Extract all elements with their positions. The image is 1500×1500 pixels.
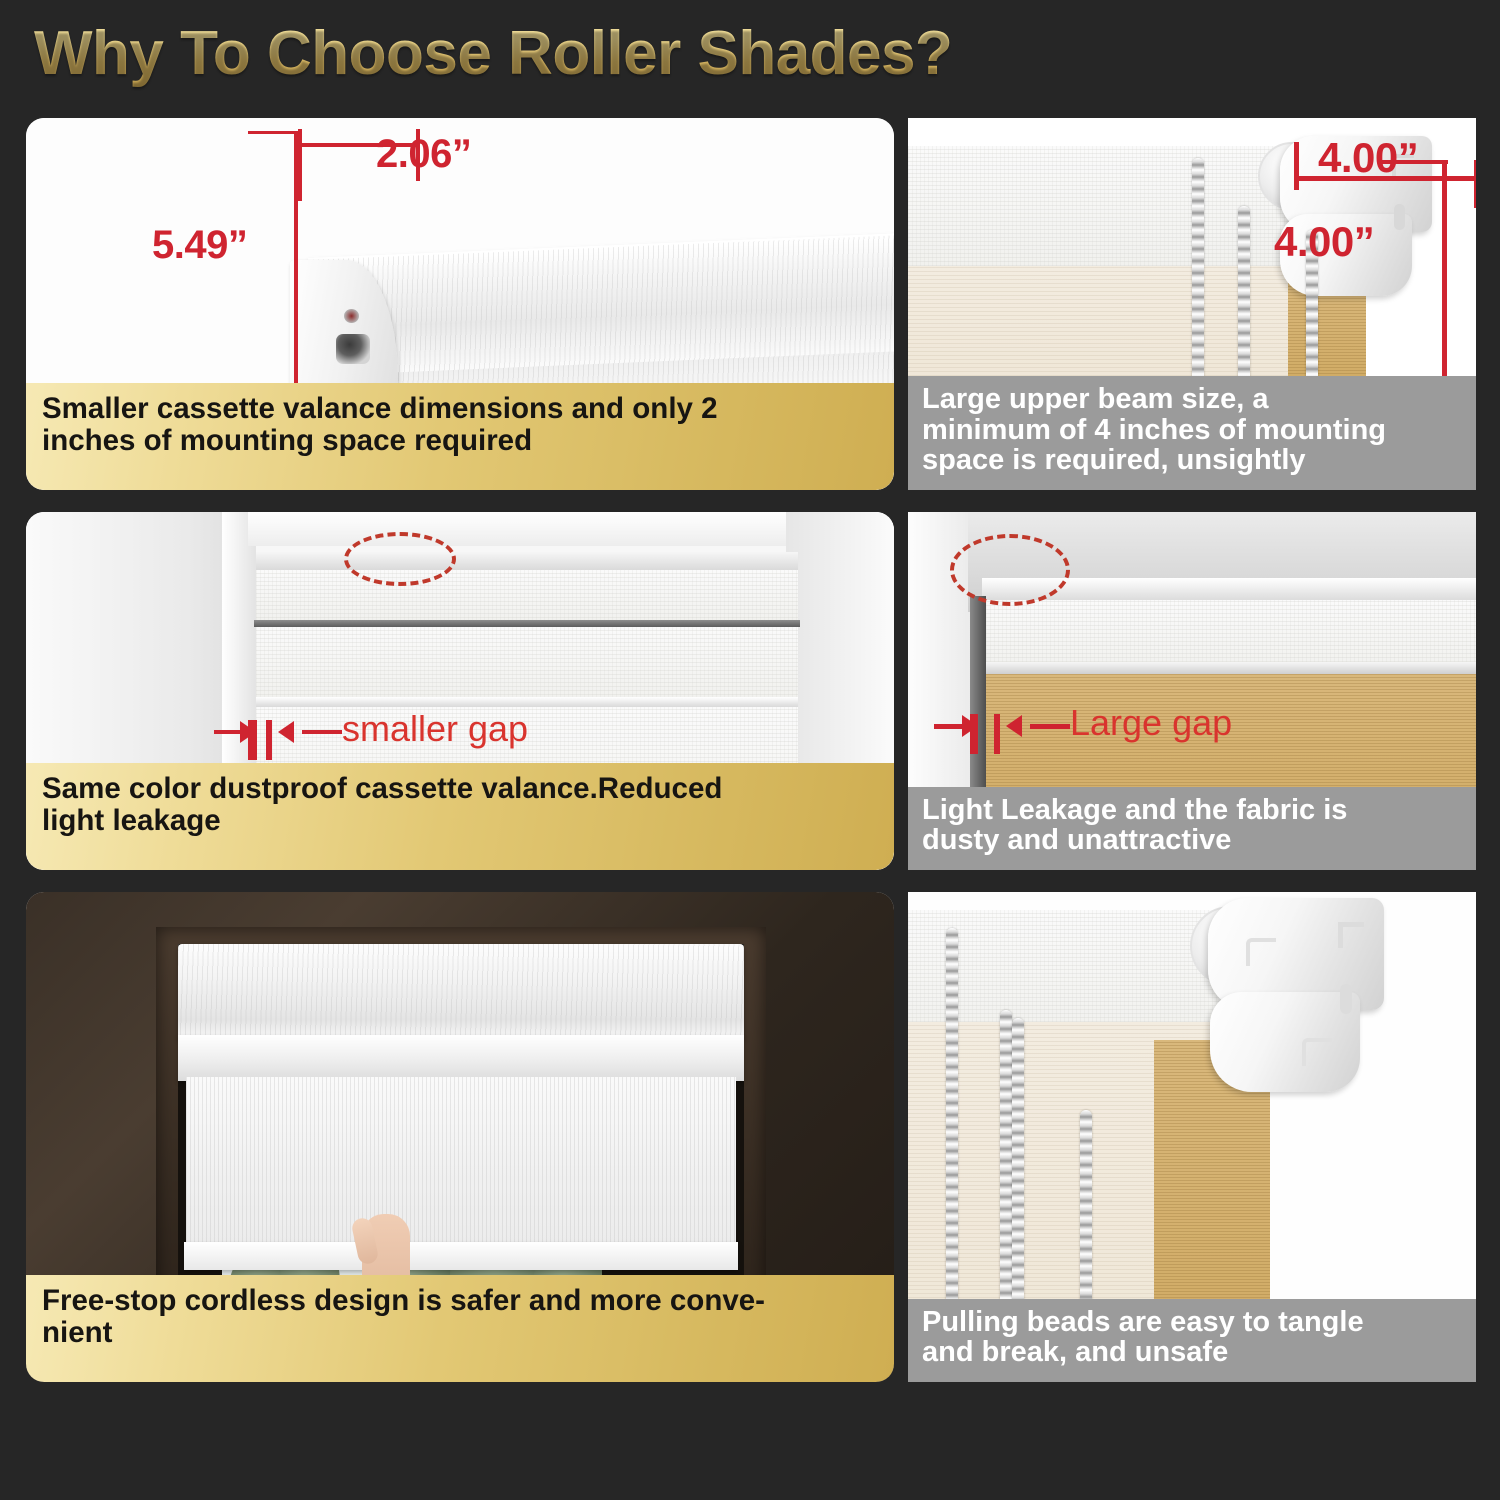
bracket-arrow-embossed-icon xyxy=(1246,938,1276,966)
white-fabric-band xyxy=(986,600,1476,670)
cassette-top-edge xyxy=(256,552,798,570)
fabric-divider-rail xyxy=(986,662,1476,674)
gap-arrow-right-shaft xyxy=(1030,724,1070,729)
caption-line: Smaller cassette valance dimensions and … xyxy=(42,393,878,424)
bracket-slot-icon xyxy=(1340,984,1352,1014)
caption-line: and break, and unsafe xyxy=(922,1337,1462,1368)
large-gap-label: Large gap xyxy=(1070,702,1232,744)
caption-line: light leakage xyxy=(42,805,878,836)
caption-cordless-design: Free-stop cordless design is safer and m… xyxy=(26,1275,894,1382)
beam-height-dimension-label: 4.00” xyxy=(1274,218,1374,266)
caption-line: Light Leakage and the fabric is xyxy=(922,795,1462,826)
bead-chain-right xyxy=(1238,206,1250,398)
caption-light-leakage: Light Leakage and the fabric is dusty an… xyxy=(908,787,1476,870)
width-dimension-label: 2.06” xyxy=(376,132,471,177)
valance-gap-line xyxy=(254,620,800,627)
panel-large-beam: 4.00” 4.00” Large upper beam size, a min… xyxy=(908,118,1476,490)
beam-width-tick-right xyxy=(1474,160,1476,208)
caption-line: Pulling beads are easy to tangle xyxy=(922,1307,1462,1338)
caption-line: nient xyxy=(42,1317,878,1348)
end-cap-rivet-icon xyxy=(344,309,359,323)
beam-width-tick-left xyxy=(1294,142,1299,190)
cassette-valance-head xyxy=(178,944,744,1039)
panel-pulling-beads: Pulling beads are easy to tangle and bre… xyxy=(908,892,1476,1382)
gap-marker-right xyxy=(266,720,272,760)
shade-bottom-rail xyxy=(184,1242,738,1270)
height-dimension-label: 5.49” xyxy=(152,223,247,268)
gap-arrow-right-shaft xyxy=(302,730,342,734)
caption-line: space is required, unsightly xyxy=(922,445,1462,476)
smaller-gap-label: smaller gap xyxy=(342,708,528,750)
gap-highlight-ring xyxy=(950,534,1070,606)
caption-smaller-gap: Same color dustproof cassette valance.Re… xyxy=(26,763,894,870)
shade-bottom-rail xyxy=(256,697,798,707)
gap-arrow-right-head-icon xyxy=(278,721,294,743)
caption-line: minimum of 4 inches of mounting xyxy=(922,415,1462,446)
title-bar: Why To Choose Roller Shades? xyxy=(0,0,1500,112)
height-dimension-tick-top xyxy=(248,131,298,134)
caption-line: Free-stop cordless design is safer and m… xyxy=(42,1285,878,1316)
caption-cassette-dimensions: Smaller cassette valance dimensions and … xyxy=(26,383,894,490)
panel-cassette-dimensions: 2.06” 5.49” Smaller cassette valance dim… xyxy=(26,118,894,490)
gap-arrow-left-head-icon xyxy=(962,715,978,737)
bracket-arrow-embossed-icon-2 xyxy=(1302,1038,1332,1066)
cassette-valance-face xyxy=(256,570,798,622)
caption-line: inches of mounting space required xyxy=(42,425,878,456)
bracket-slot-icon xyxy=(1394,204,1405,230)
page-title: Why To Choose Roller Shades? xyxy=(34,18,952,89)
width-dimension-tick-left xyxy=(298,129,302,201)
panel-light-leakage: Large gap Light Leakage and the fabric i… xyxy=(908,512,1476,870)
gap-marker-right xyxy=(994,714,1000,754)
bead-chain-left xyxy=(1192,158,1204,398)
gap-arrow-right-head-icon xyxy=(1006,715,1022,737)
bracket-notch-icon xyxy=(1338,922,1364,948)
panel-cordless-design: Free-stop cordless design is safer and m… xyxy=(26,892,894,1382)
caption-line: Large upper beam size, a xyxy=(922,384,1462,415)
cassette-valance-lip xyxy=(178,1035,744,1081)
gap-arrow-left-head-icon xyxy=(240,721,256,743)
shade-fabric xyxy=(186,1077,736,1262)
end-cap-roller-slot-icon xyxy=(336,334,370,364)
shade-fabric-upper xyxy=(256,627,798,699)
caption-large-beam: Large upper beam size, a minimum of 4 in… xyxy=(908,376,1476,490)
lower-bracket-body xyxy=(1210,992,1360,1092)
caption-pulling-beads: Pulling beads are easy to tangle and bre… xyxy=(908,1299,1476,1382)
panel-smaller-gap: smaller gap Same color dustproof cassett… xyxy=(26,512,894,870)
beam-width-dimension-label: 4.00” xyxy=(1318,134,1418,182)
caption-line: Same color dustproof cassette valance.Re… xyxy=(42,773,878,804)
gap-highlight-ring xyxy=(344,532,456,586)
caption-line: dusty and unattractive xyxy=(922,825,1462,856)
beam-height-dimension-line xyxy=(1442,160,1447,396)
